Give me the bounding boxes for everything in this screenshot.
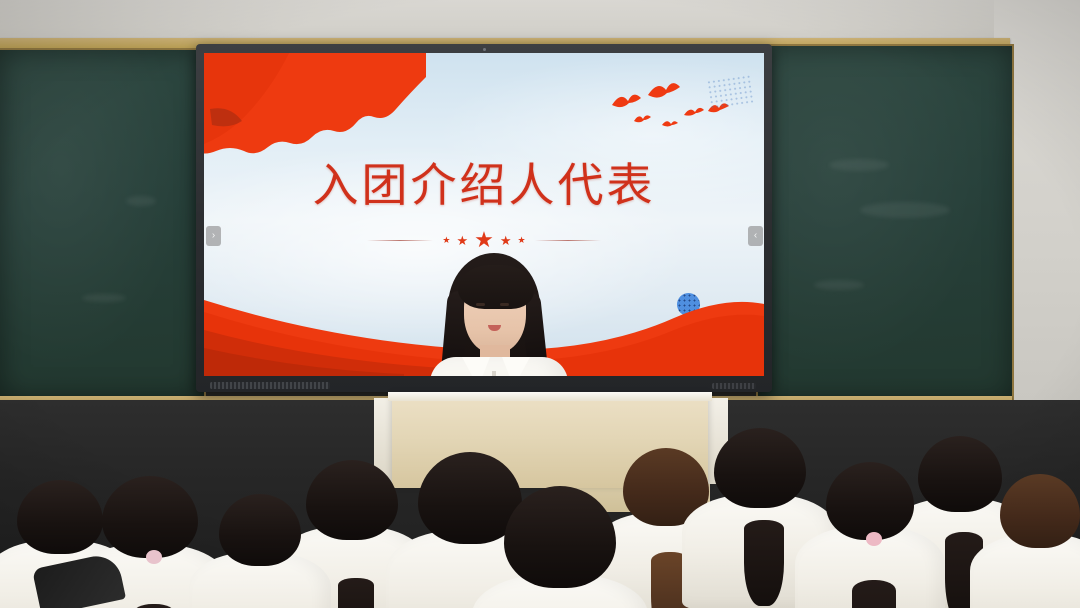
sensor-indicator: [483, 48, 486, 51]
star-divider: ★ ★ ★ ★ ★: [204, 229, 764, 251]
student-head: [826, 462, 914, 540]
student-head: [504, 486, 616, 588]
audience-group: [0, 398, 1080, 608]
divider-rule-right: [535, 240, 601, 241]
audience-student: [795, 462, 945, 608]
audience-student: [970, 474, 1080, 608]
halftone-texture: [706, 74, 754, 110]
hair-tie: [866, 532, 882, 546]
star-icon: ★: [442, 236, 450, 245]
student-head: [219, 494, 301, 566]
presenter-fringe: [458, 265, 534, 309]
star-icon: ★: [456, 234, 468, 247]
student-head: [714, 428, 806, 508]
presenter-shirt: [430, 357, 568, 376]
display-brand-mark: [712, 383, 756, 389]
speaker-grille: [210, 382, 330, 389]
smart-display[interactable]: 入团介绍人代表 ★ ★ ★ ★ ★: [196, 44, 772, 392]
slide-next-button[interactable]: ‹: [748, 226, 763, 246]
chalkboard-right: [756, 44, 1014, 402]
divider-rule-left: [367, 240, 433, 241]
presenter-eye: [476, 303, 485, 306]
student-ponytail: [852, 580, 896, 608]
presenter-shirt-placket: [492, 371, 496, 376]
divider-stars: ★ ★ ★ ★ ★: [442, 229, 525, 251]
student-ponytail: [744, 520, 784, 606]
chalkboard-left: [0, 48, 206, 400]
student-head: [102, 476, 198, 558]
presentation-slide: 入团介绍人代表 ★ ★ ★ ★ ★: [204, 53, 764, 376]
hair-tie: [146, 550, 162, 564]
slide-prev-button[interactable]: ›: [206, 226, 221, 246]
star-icon: ★: [474, 229, 494, 251]
star-icon: ★: [518, 236, 526, 245]
audience-student: [189, 494, 331, 608]
slide-title: 入团介绍人代表: [204, 149, 764, 215]
presenter-figure: [400, 253, 600, 376]
audience-student: [472, 486, 648, 608]
presenter-eye: [500, 303, 509, 306]
star-icon: ★: [500, 234, 512, 247]
classroom-scene: 入团介绍人代表 ★ ★ ★ ★ ★: [0, 0, 1080, 608]
student-head: [1000, 474, 1080, 548]
student-ponytail: [338, 578, 374, 608]
